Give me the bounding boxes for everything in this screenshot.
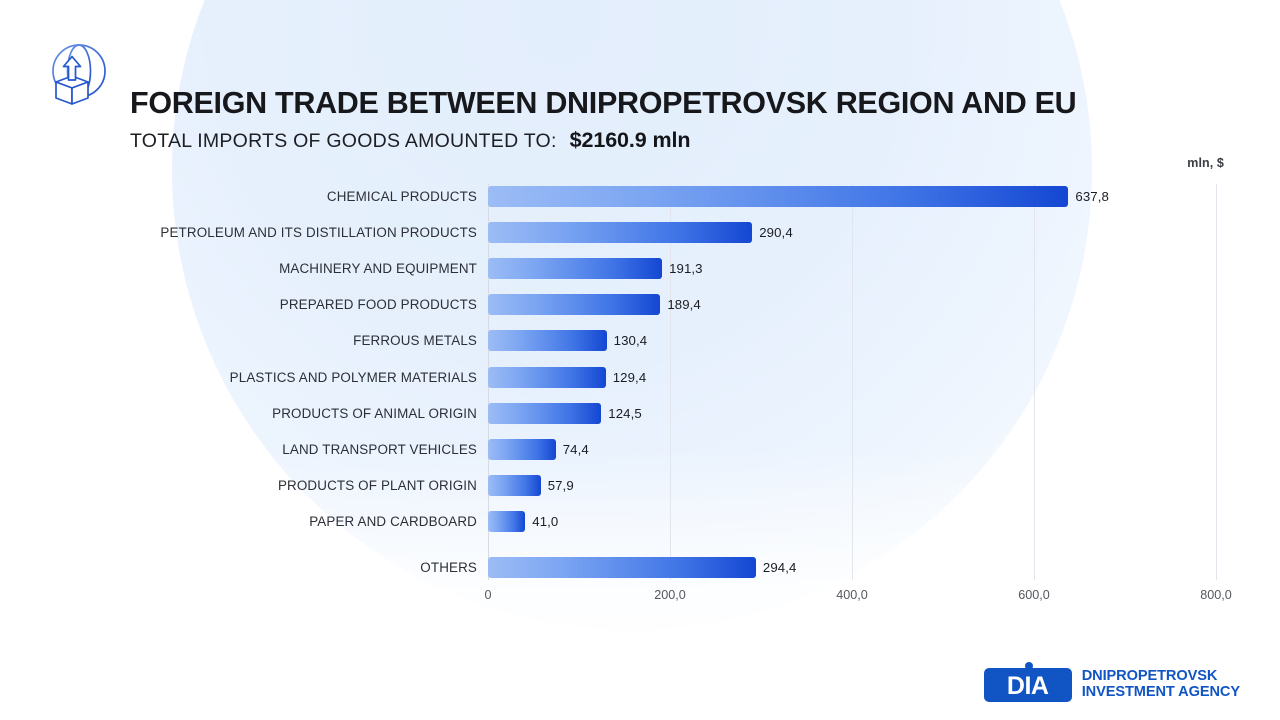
bar-value-label: 191,3 xyxy=(669,261,703,276)
bar[interactable] xyxy=(488,258,662,279)
bar[interactable] xyxy=(488,475,541,496)
dia-logo-wordmark: DNIPROPETROVSK INVESTMENT AGENCY xyxy=(1082,669,1240,701)
bar-group: 290,4 xyxy=(488,222,793,243)
bar[interactable] xyxy=(488,511,525,532)
bar-group: 294,4 xyxy=(488,557,796,578)
chart-row: PRODUCTS OF ANIMAL ORIGIN124,5 xyxy=(0,395,1280,431)
x-tick-label: 600,0 xyxy=(1018,588,1050,602)
x-tick-label: 0 xyxy=(484,588,491,602)
bar[interactable] xyxy=(488,403,601,424)
bar-group: 129,4 xyxy=(488,367,646,388)
subtitle-label: TOTAL IMPORTS OF GOODS AMOUNTED TO: xyxy=(130,130,557,153)
category-label: PLASTICS AND POLYMER MATERIALS xyxy=(0,370,477,385)
x-tick-label: 800,0 xyxy=(1200,588,1232,602)
total-imports-amount: $2160.9 mln xyxy=(570,128,691,153)
chart-row: PLASTICS AND POLYMER MATERIALS129,4 xyxy=(0,359,1280,395)
bar-value-label: 74,4 xyxy=(563,442,589,457)
category-label: PRODUCTS OF ANIMAL ORIGIN xyxy=(0,406,477,421)
bar-value-label: 189,4 xyxy=(667,297,701,312)
globe-export-box-icon xyxy=(38,38,116,112)
dia-logo-line-1: DNIPROPETROVSK xyxy=(1082,669,1240,685)
x-tick-label: 200,0 xyxy=(654,588,686,602)
bar-group: 41,0 xyxy=(488,511,558,532)
bar-value-label: 57,9 xyxy=(548,478,574,493)
chart-rows: CHEMICAL PRODUCTS637,8PETROLEUM AND ITS … xyxy=(0,178,1280,586)
x-axis-ticks: 0200,0400,0600,0800,0 xyxy=(0,588,1280,614)
bar-group: 189,4 xyxy=(488,294,701,315)
chart-row: OTHERS294,4 xyxy=(0,550,1280,586)
bar[interactable] xyxy=(488,439,556,460)
category-label: LAND TRANSPORT VEHICLES xyxy=(0,442,477,457)
axis-unit-label: mln, $ xyxy=(1187,156,1224,170)
bar-value-label: 129,4 xyxy=(613,370,647,385)
bar-value-label: 124,5 xyxy=(608,406,642,421)
category-label: PAPER AND CARDBOARD xyxy=(0,514,477,529)
bar-group: 74,4 xyxy=(488,439,589,460)
bar-group: 57,9 xyxy=(488,475,574,496)
bar[interactable] xyxy=(488,557,756,578)
bar[interactable] xyxy=(488,222,752,243)
dia-logo: DIA DNIPROPETROVSK INVESTMENT AGENCY xyxy=(984,664,1240,706)
category-label: PRODUCTS OF PLANT ORIGIN xyxy=(0,478,477,493)
bar-value-label: 637,8 xyxy=(1075,189,1109,204)
dia-logo-line-2: INVESTMENT AGENCY xyxy=(1082,685,1240,701)
x-tick-label: 400,0 xyxy=(836,588,868,602)
bar-group: 124,5 xyxy=(488,403,642,424)
category-label: PETROLEUM AND ITS DISTILLATION PRODUCTS xyxy=(0,225,477,240)
chart-row: PREPARED FOOD PRODUCTS189,4 xyxy=(0,287,1280,323)
bar-value-label: 290,4 xyxy=(759,225,793,240)
dia-logo-dot-icon xyxy=(1025,662,1033,670)
bar-group: 191,3 xyxy=(488,258,703,279)
infographic-page: FOREIGN TRADE BETWEEN DNIPROPETROVSK REG… xyxy=(0,0,1280,720)
chart-row: MACHINERY AND EQUIPMENT191,3 xyxy=(0,250,1280,286)
bar-value-label: 294,4 xyxy=(763,560,797,575)
chart-row: CHEMICAL PRODUCTS637,8 xyxy=(0,178,1280,214)
category-label: PREPARED FOOD PRODUCTS xyxy=(0,297,477,312)
dia-logo-mark-text: DIA xyxy=(1007,674,1049,699)
chart-row: PRODUCTS OF PLANT ORIGIN57,9 xyxy=(0,468,1280,504)
bar-value-label: 130,4 xyxy=(614,333,648,348)
bar[interactable] xyxy=(488,367,606,388)
bar[interactable] xyxy=(488,186,1068,207)
bar-group: 637,8 xyxy=(488,186,1109,207)
category-label: OTHERS xyxy=(0,560,477,575)
bar-value-label: 41,0 xyxy=(532,514,558,529)
category-label: FERROUS METALS xyxy=(0,333,477,348)
category-label: MACHINERY AND EQUIPMENT xyxy=(0,261,477,276)
bar-group: 130,4 xyxy=(488,330,647,351)
chart-row: PETROLEUM AND ITS DISTILLATION PRODUCTS2… xyxy=(0,214,1280,250)
chart-row: PAPER AND CARDBOARD41,0 xyxy=(0,504,1280,540)
chart-row: LAND TRANSPORT VEHICLES74,4 xyxy=(0,431,1280,467)
subtitle-row: TOTAL IMPORTS OF GOODS AMOUNTED TO: $216… xyxy=(130,128,690,153)
header: FOREIGN TRADE BETWEEN DNIPROPETROVSK REG… xyxy=(0,36,1280,114)
category-label: CHEMICAL PRODUCTS xyxy=(0,189,477,204)
page-title: FOREIGN TRADE BETWEEN DNIPROPETROVSK REG… xyxy=(130,86,1076,121)
bar[interactable] xyxy=(488,330,607,351)
chart-row: FERROUS METALS130,4 xyxy=(0,323,1280,359)
dia-logo-mark: DIA xyxy=(984,668,1072,702)
bar[interactable] xyxy=(488,294,660,315)
bar-chart: CHEMICAL PRODUCTS637,8PETROLEUM AND ITS … xyxy=(0,178,1280,608)
